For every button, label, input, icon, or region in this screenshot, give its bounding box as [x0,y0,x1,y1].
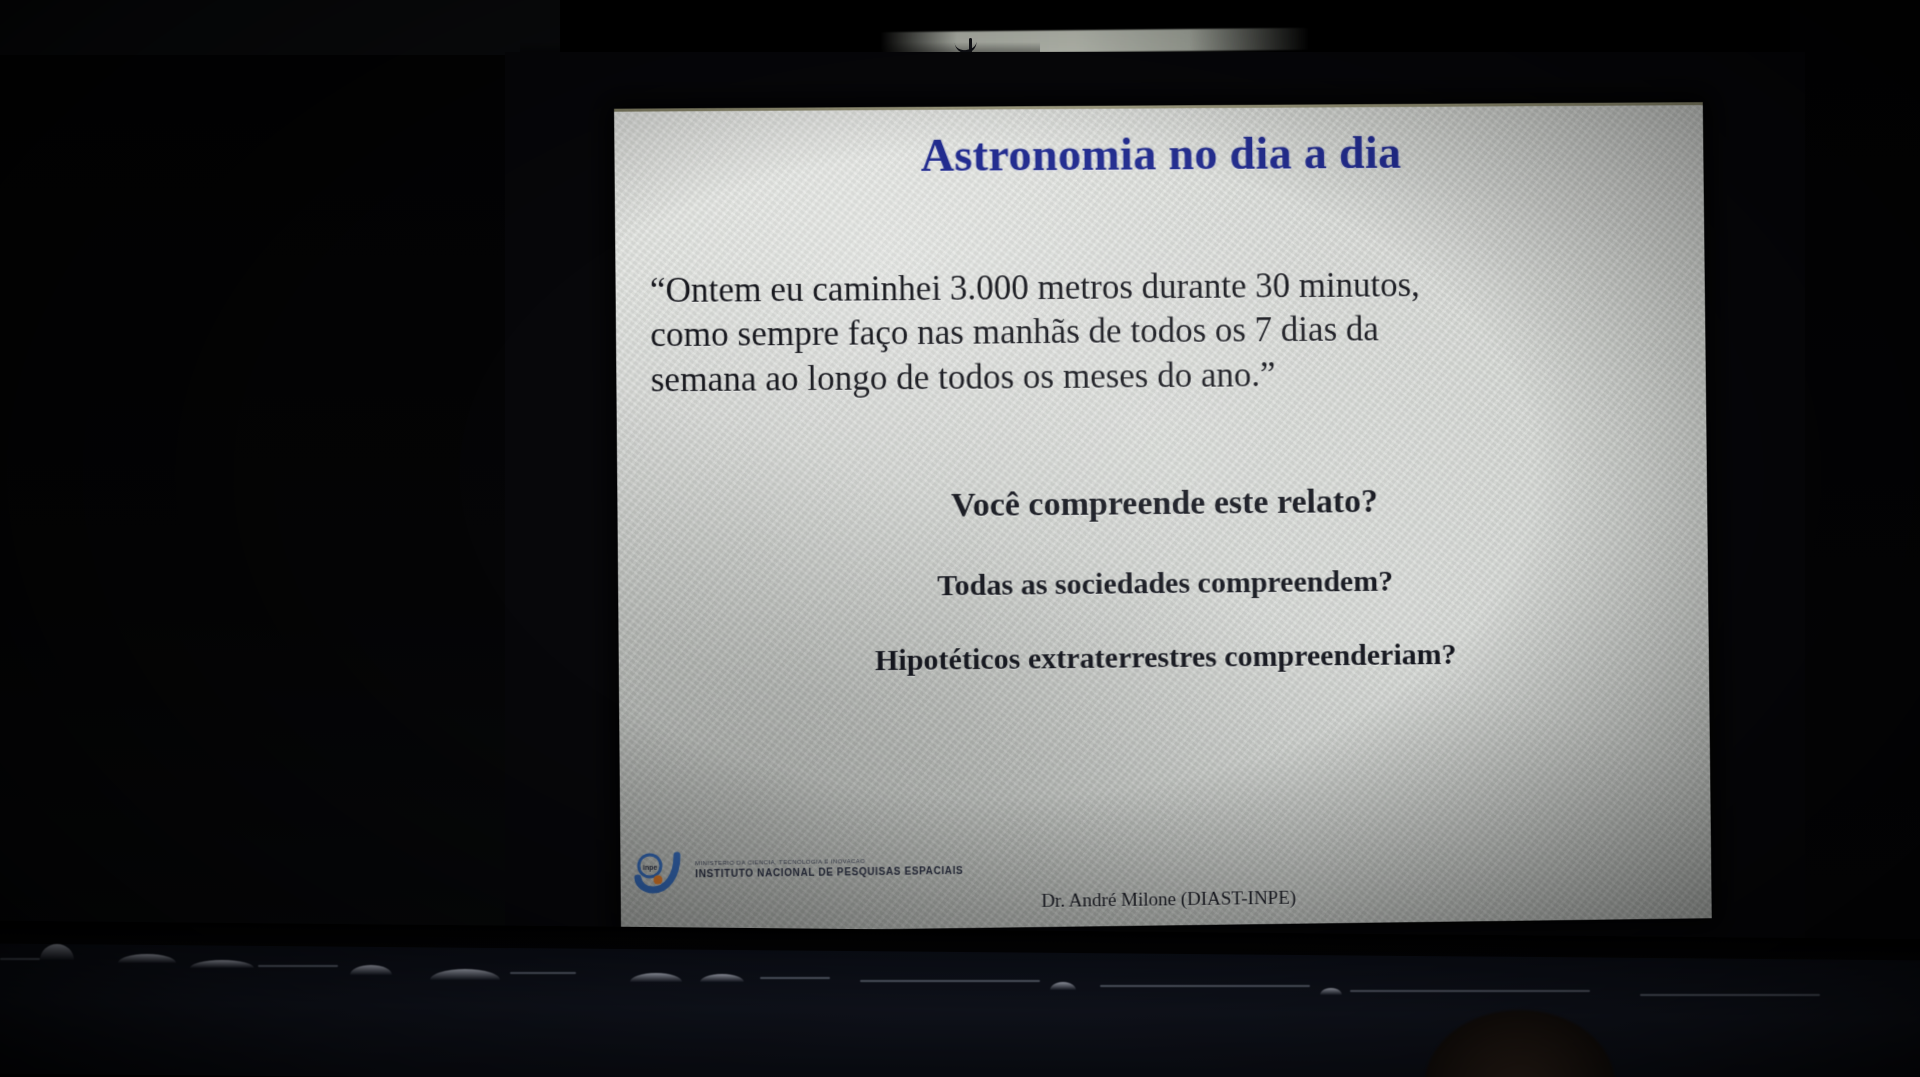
slide-surface: Astronomia no dia a dia “Ontem eu caminh… [614,102,1712,932]
svg-text:inpe: inpe [643,865,658,872]
quote-line-1: “Ontem eu caminhei 3.000 metros durante … [650,261,1660,313]
inpe-logo-icon: inpe [632,849,687,894]
question-1: Você compreende este relato? [617,480,1707,528]
slide-quote: “Ontem eu caminhei 3.000 metros durante … [650,261,1661,402]
projected-slide: Astronomia no dia a dia “Ontem eu caminh… [614,102,1712,932]
quote-line-3: semana ao longo de todos os meses do ano… [650,350,1660,403]
question-2: Todas as sociedades compreendem? [618,562,1708,607]
inpe-logo: inpe MINISTERIO DA CIENCIA, TECNOLOGIA E… [632,846,963,894]
ceiling-dark-left [0,0,560,60]
wall-right [1790,0,1920,960]
slide-questions: Você compreende este relato? Todas as so… [617,480,1709,681]
slide-title: Astronomia no dia a dia [614,124,1703,184]
auditorium-photo-scene: Astronomia no dia a dia “Ontem eu caminh… [0,0,1920,1077]
logo-institute-line: INSTITUTO NACIONAL DE PESQUISAS ESPACIAI… [695,865,963,881]
auditorium-floor [0,944,1920,1077]
wall-left [0,55,530,955]
question-3: Hipotéticos extraterrestres compreenderi… [619,635,1709,681]
